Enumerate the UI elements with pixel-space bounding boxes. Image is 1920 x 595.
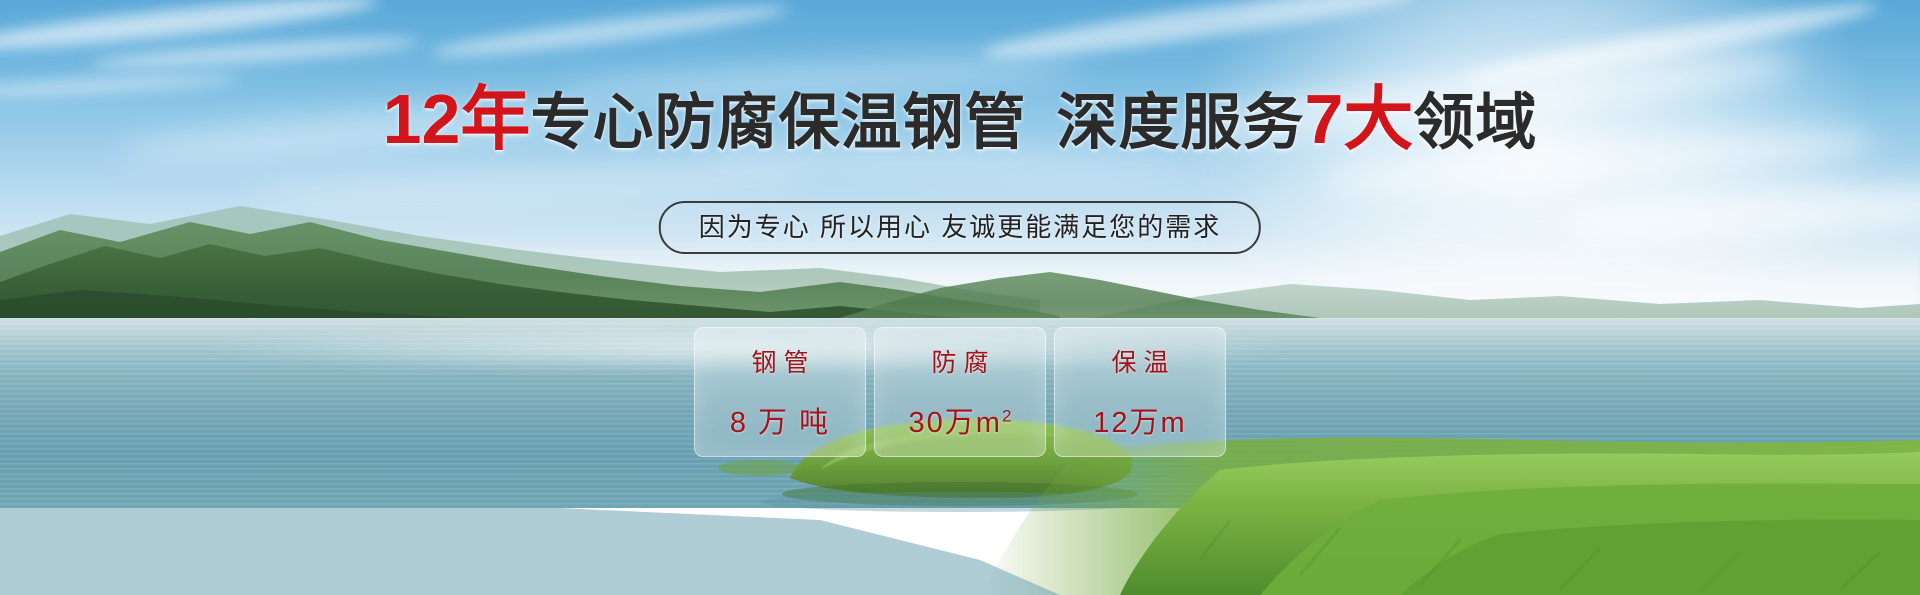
stat-value-superscript: 2 bbox=[1002, 406, 1011, 425]
headline-fields: 领域 bbox=[1413, 88, 1537, 156]
headline-focus: 专心防腐保温钢管 bbox=[530, 88, 1026, 156]
headline-seven: 7大 bbox=[1304, 80, 1413, 158]
headline-years: 12年 bbox=[383, 80, 531, 158]
subtitle-pill: 因为专心 所以用心 友诚更能满足您的需求 bbox=[659, 201, 1261, 254]
stat-value-text: 8 万 吨 bbox=[730, 407, 830, 439]
stat-value-text: 30万m bbox=[909, 407, 1002, 439]
stat-value: 12万m bbox=[1093, 399, 1186, 441]
stat-card-steel-pipe[interactable]: 钢管 8 万 吨 bbox=[694, 327, 866, 457]
stat-label: 钢管 bbox=[744, 343, 815, 379]
headline-service: 深度服务 bbox=[1056, 88, 1304, 156]
stat-card-anticorrosion[interactable]: 防腐 30万m2 bbox=[874, 327, 1046, 457]
page-title: 12年专心防腐保温钢管深度服务7大领域 bbox=[0, 86, 1920, 155]
stat-label: 保温 bbox=[1104, 343, 1175, 379]
stat-label: 防腐 bbox=[924, 343, 995, 379]
stat-card-insulation[interactable]: 保温 12万m bbox=[1054, 327, 1226, 457]
stat-value: 30万m2 bbox=[909, 399, 1012, 441]
stat-value-text: 12万m bbox=[1093, 407, 1186, 439]
stat-value: 8 万 吨 bbox=[730, 399, 830, 441]
promo-banner: 12年专心防腐保温钢管深度服务7大领域 因为专心 所以用心 友诚更能满足您的需求… bbox=[0, 0, 1920, 595]
stat-card-group: 钢管 8 万 吨 防腐 30万m2 保温 12万m bbox=[694, 327, 1226, 457]
